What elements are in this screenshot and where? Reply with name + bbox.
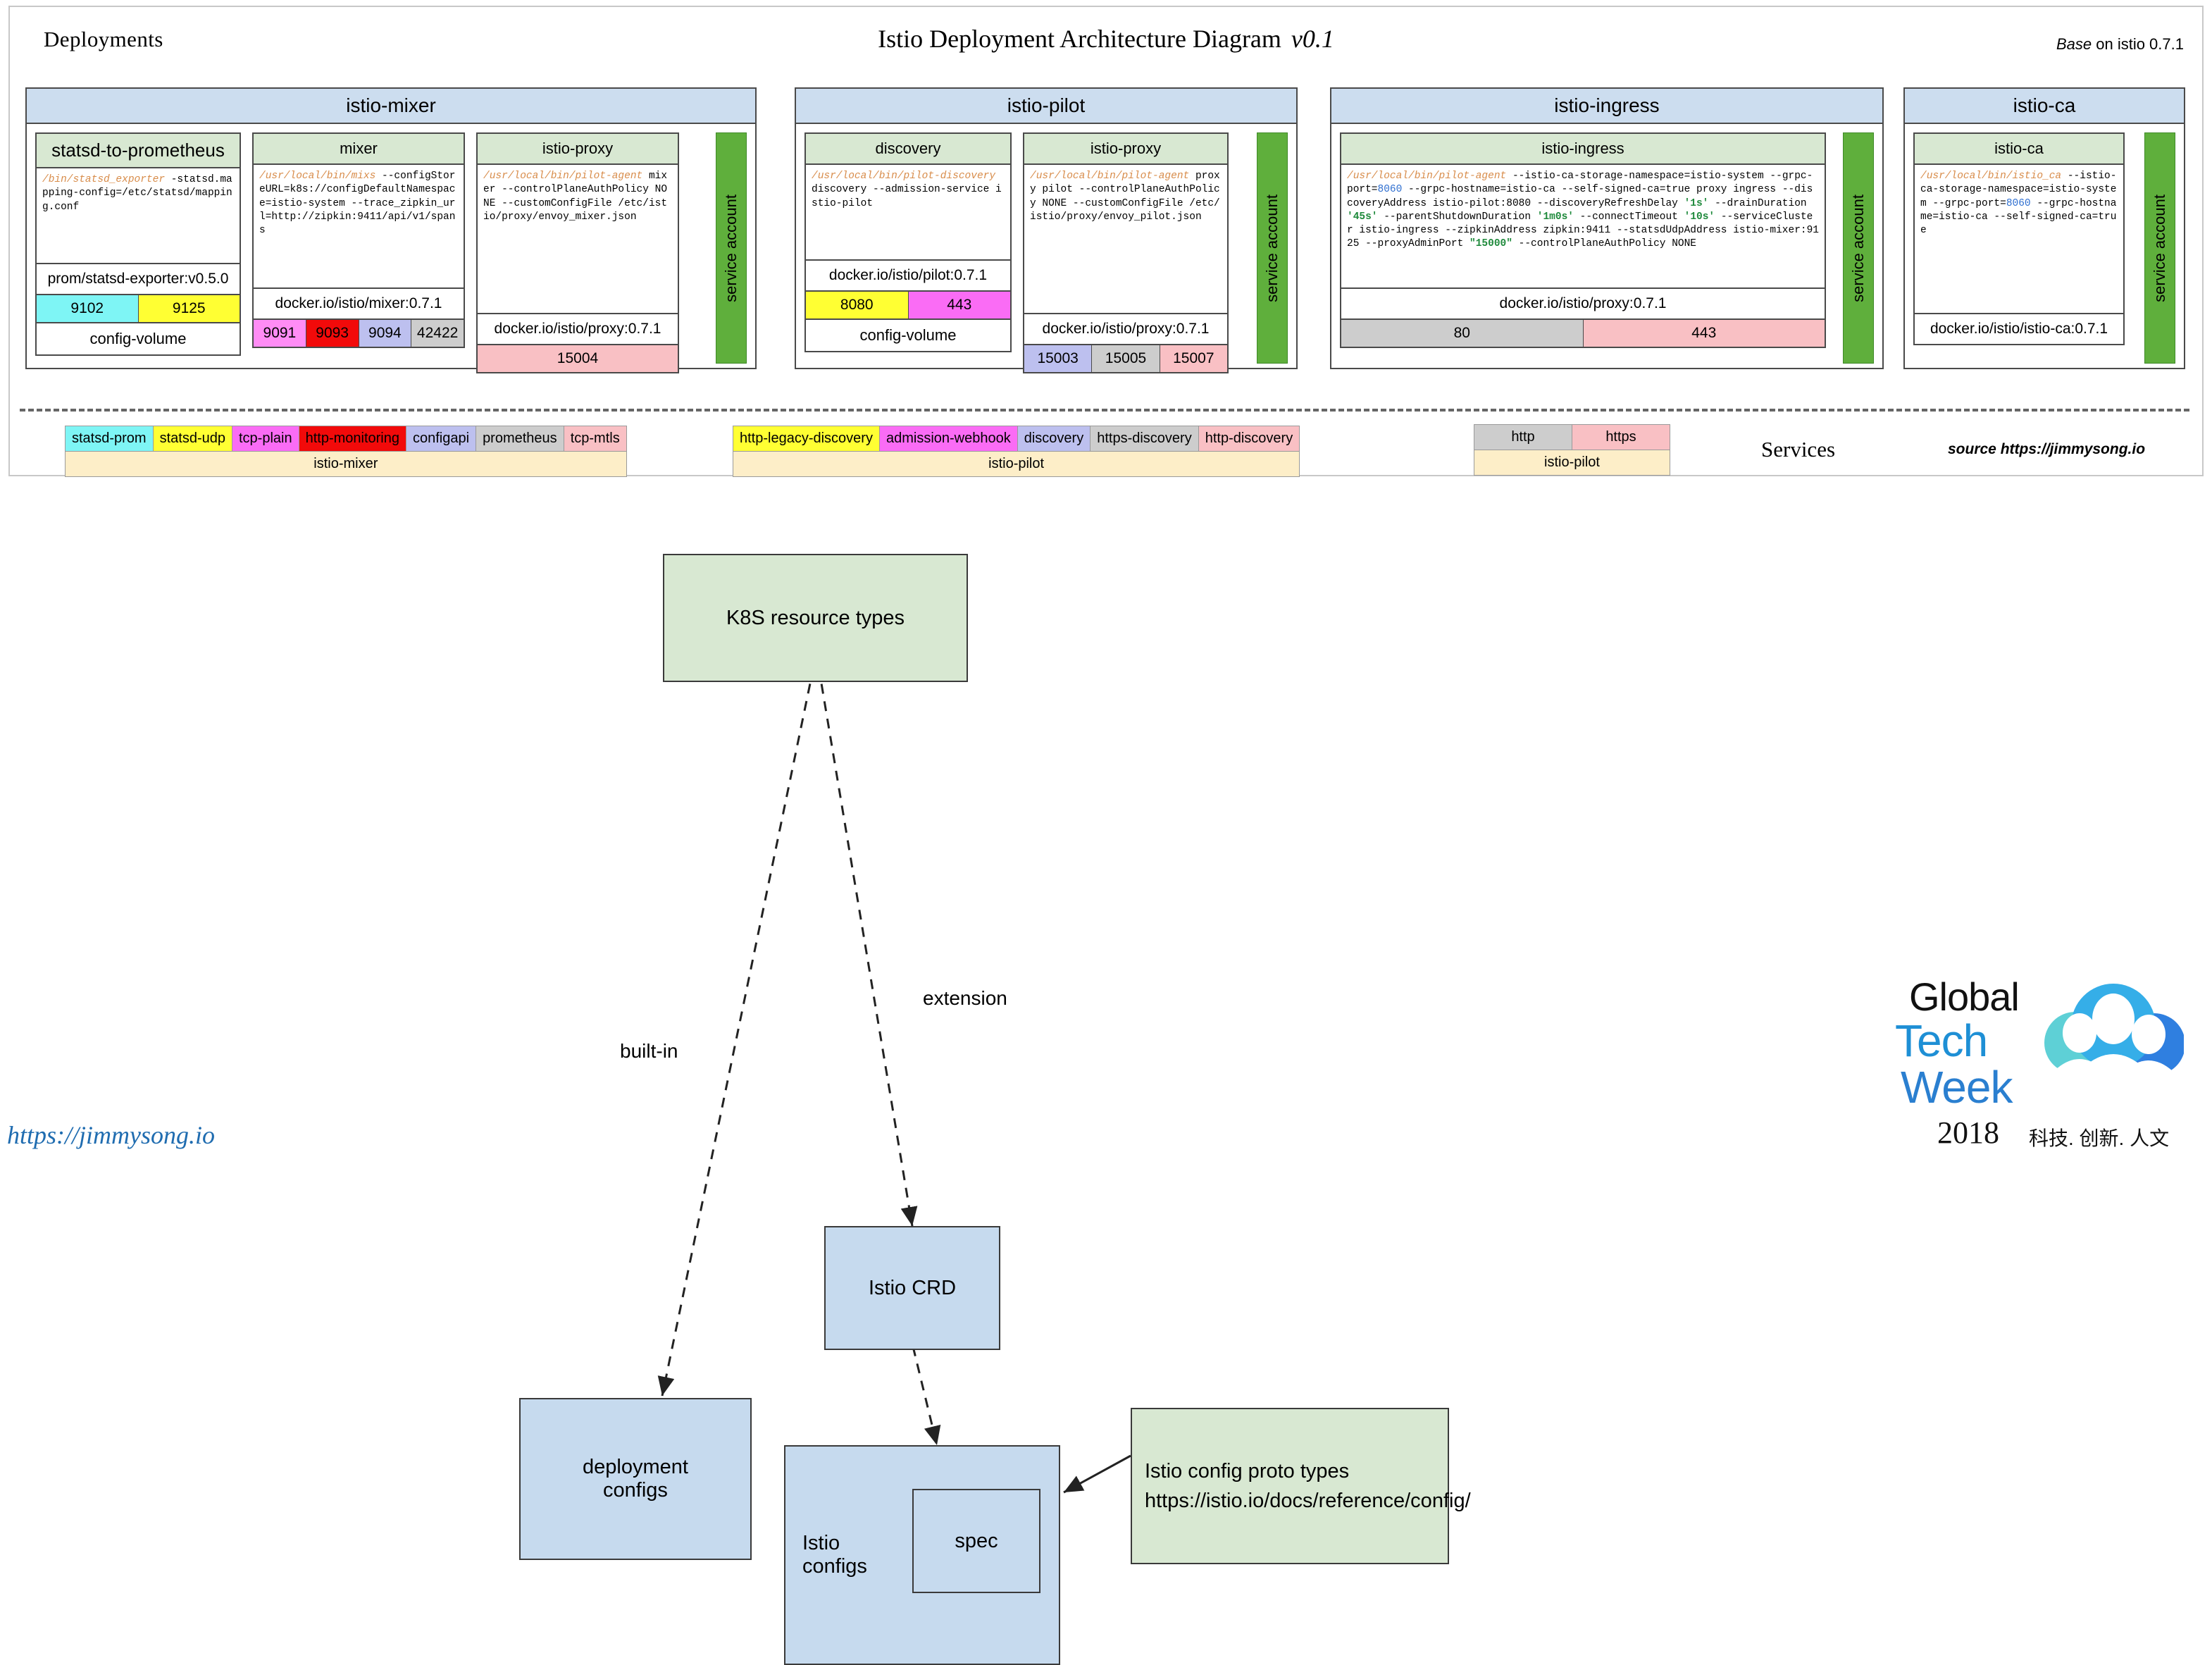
container-list: istio-ingress/usr/local/bin/pilot-agent … [1340,132,1843,348]
container-statsd-to-prometheus[interactable]: statsd-to-prometheus/bin/statsd_exporter… [35,132,241,356]
base-note-rest: on istio 0.7.1 [2092,35,2184,53]
port-cell[interactable]: 443 [909,292,1011,318]
node-k8s-resource-types[interactable]: K8S resource types [663,554,968,682]
deployment-group-istio-ingress[interactable]: istio-ingressistio-ingress/usr/local/bin… [1330,87,1884,369]
node-istio-crd[interactable]: Istio CRD [824,1226,1000,1350]
port-cell[interactable]: 15007 [1160,345,1227,372]
port-cell[interactable]: 80 [1341,320,1584,347]
version-label: v0.1 [1291,25,1334,53]
port-cell[interactable]: 443 [1584,320,1825,347]
deployment-group-body: istio-ca/usr/local/bin/istio_ca --istio-… [1905,124,2184,372]
container-image: prom/statsd-exporter:v0.5.0 [37,264,240,295]
service-account-strip: service account [2144,132,2175,364]
deployment-group-title: istio-mixer [27,89,755,124]
page-title: Istio Deployment Architecture Diagramv0.… [0,24,2212,54]
service-port-row: statsd-promstatsd-udptcp-plainhttp-monit… [66,426,626,452]
container-ports: 8080443 [806,292,1010,320]
node-deployment-label: deployment configs [521,1456,750,1502]
service-port[interactable]: statsd-udp [154,426,232,451]
container-title: mixer [254,134,464,165]
edge-builtin [662,667,814,1396]
logo-line-week: Week [1901,1061,2012,1113]
edge-extension [819,667,912,1226]
service-account-label: service account [722,194,740,302]
container-image: docker.io/istio/istio-ca:0.7.1 [1915,314,2123,344]
deployment-group-istio-pilot[interactable]: istio-pilotdiscovery/usr/local/bin/pilot… [795,87,1298,369]
service-name: istio-mixer [66,452,626,476]
container-title: istio-ca [1915,134,2123,165]
node-istio-configs-label: Istio configs [802,1532,867,1578]
container-volume: config-volume [37,323,240,354]
global-tech-week-logo: Global Tech Week 2018 科技. 创新. 人文 [1895,974,2191,1171]
service-istio-pilot-2[interactable]: httphttpsistio-pilot [1474,424,1670,476]
deployment-group-title: istio-pilot [796,89,1296,124]
page-title-text: Istio Deployment Architecture Diagram [878,25,1281,53]
container-command: /usr/local/bin/pilot-discovery discovery… [806,165,1010,261]
deployment-group-title: istio-ingress [1331,89,1882,124]
port-cell[interactable]: 9125 [139,295,240,322]
service-port[interactable]: http-monitoring [299,426,406,451]
logo-line-global: Global [1909,974,2019,1020]
container-command: /bin/statsd_exporter -statsd.mapping-con… [37,168,240,264]
port-cell[interactable]: 15005 [1092,345,1160,372]
container-command: /usr/local/bin/istio_ca --istio-ca-stora… [1915,165,2123,314]
services-label: Services [1761,437,1835,462]
service-port[interactable]: admission-webhook [880,426,1018,451]
container-istio-proxy[interactable]: istio-proxy/usr/local/bin/pilot-agent mi… [476,132,679,373]
service-istio-pilot-1[interactable]: http-legacy-discoveryadmission-webhookdi… [733,426,1300,477]
container-ports: 90919093909442422 [254,320,464,347]
edge-crd-to-configs [913,1347,937,1445]
service-account-strip: service account [1257,132,1288,364]
service-name: istio-pilot [733,452,1299,476]
service-port[interactable]: http-discovery [1199,426,1300,451]
node-crd-label: Istio CRD [869,1277,956,1300]
container-volume: config-volume [806,320,1010,351]
container-title: istio-proxy [1024,134,1227,165]
deployment-group-istio-mixer[interactable]: istio-mixerstatsd-to-prometheus/bin/stat… [25,87,757,369]
port-cell[interactable]: 9091 [254,320,306,347]
edge-label-builtin: built-in [620,1040,678,1063]
logo-tagline: 科技. 创新. 人文 [2029,1123,2169,1151]
service-port[interactable]: tcp-mtls [564,426,626,451]
container-ports: 150031500515007 [1024,345,1227,372]
people-cloud-icon [2043,979,2184,1113]
source-note: source https://jimmysong.io [1948,441,2145,458]
service-port[interactable]: http-legacy-discovery [733,426,880,451]
container-image: docker.io/istio/proxy:0.7.1 [1024,314,1227,345]
container-istio-ca[interactable]: istio-ca/usr/local/bin/istio_ca --istio-… [1913,132,2125,345]
service-account-label: service account [2151,194,2169,302]
service-port[interactable]: https [1572,425,1670,450]
container-image: docker.io/istio/pilot:0.7.1 [806,261,1010,292]
port-cell[interactable]: 42422 [411,320,464,347]
base-version-note: Base on istio 0.7.1 [2056,35,2184,54]
service-name: istio-pilot [1474,450,1670,475]
diagram-edges [0,476,2212,1181]
container-discovery[interactable]: discovery/usr/local/bin/pilot-discovery … [804,132,1012,352]
service-port-row: httphttps [1474,425,1670,450]
container-title: statsd-to-prometheus [37,134,240,168]
edge-proto-to-spec [1064,1456,1131,1492]
container-list: statsd-to-prometheus/bin/statsd_exporter… [35,132,716,373]
service-port-row: http-legacy-discoveryadmission-webhookdi… [733,426,1299,452]
container-image: docker.io/istio/proxy:0.7.1 [478,314,678,345]
deployment-group-istio-ca[interactable]: istio-caistio-ca/usr/local/bin/istio_ca … [1903,87,2185,369]
node-k8s-label: K8S resource types [726,607,905,630]
node-istio-config-proto-types[interactable]: Istio config proto types https://istio.i… [1131,1408,1449,1564]
deployment-group-body: discovery/usr/local/bin/pilot-discovery … [796,124,1296,372]
node-spec-label: spec [955,1530,998,1553]
container-image: docker.io/istio/proxy:0.7.1 [1341,289,1825,320]
base-note-emphasis: Base [2056,35,2092,53]
port-cell[interactable]: 15003 [1024,345,1092,372]
deployment-group-body: istio-ingress/usr/local/bin/pilot-agent … [1331,124,1882,372]
container-image: docker.io/istio/mixer:0.7.1 [254,289,464,320]
container-title: istio-proxy [478,134,678,165]
node-istio-configs[interactable]: Istio configs spec [784,1445,1060,1665]
edge-label-extension: extension [923,987,1007,1010]
resource-model-diagram: K8S resource types Istio CRD deployment … [0,476,2212,1181]
node-spec[interactable]: spec [912,1489,1040,1593]
port-cell[interactable]: 8080 [806,292,909,318]
container-command: /usr/local/bin/mixs --configStoreURL=k8s… [254,165,464,289]
site-url[interactable]: https://jimmysong.io [7,1120,215,1150]
container-istio-ingress[interactable]: istio-ingress/usr/local/bin/pilot-agent … [1340,132,1826,348]
container-command: /usr/local/bin/pilot-agent mixer --contr… [478,165,678,314]
container-list: discovery/usr/local/bin/pilot-discovery … [804,132,1257,373]
port-cell[interactable]: 15004 [478,345,678,372]
deployment-group-body: statsd-to-prometheus/bin/statsd_exporter… [27,124,755,372]
container-ports: 91029125 [37,295,240,323]
service-port[interactable]: tcp-plain [232,426,299,451]
section-divider [20,409,2189,411]
service-port[interactable]: discovery [1018,426,1091,451]
container-command: /usr/local/bin/pilot-agent proxy pilot -… [1024,165,1227,314]
container-command: /usr/local/bin/pilot-agent --istio-ca-st… [1341,165,1825,289]
service-account-label: service account [1263,194,1281,302]
service-account-label: service account [1849,194,1868,302]
container-ports: 15004 [478,345,678,372]
service-port[interactable]: statsd-prom [66,426,154,451]
container-list: istio-ca/usr/local/bin/istio_ca --istio-… [1913,132,2144,345]
service-account-strip: service account [716,132,747,364]
logo-line-tech: Tech [1895,1015,1987,1067]
service-port[interactable]: https-discovery [1091,426,1199,451]
container-istio-proxy[interactable]: istio-proxy/usr/local/bin/pilot-agent pr… [1023,132,1229,373]
service-account-strip: service account [1843,132,1874,364]
node-deployment-configs[interactable]: deployment configs [519,1398,752,1560]
node-proto-label: Istio config proto types https://istio.i… [1145,1456,1471,1516]
port-cell[interactable]: 9094 [359,320,412,347]
service-istio-mixer-0[interactable]: statsd-promstatsd-udptcp-plainhttp-monit… [65,426,627,477]
service-port[interactable]: prometheus [476,426,564,451]
deployment-group-title: istio-ca [1905,89,2184,124]
service-port[interactable]: http [1474,425,1572,450]
service-port[interactable]: configapi [406,426,476,451]
container-title: discovery [806,134,1010,165]
container-title: istio-ingress [1341,134,1825,165]
port-cell[interactable]: 9102 [37,295,139,322]
container-ports: 80443 [1341,320,1825,347]
container-mixer[interactable]: mixer/usr/local/bin/mixs --configStoreUR… [252,132,465,348]
port-cell[interactable]: 9093 [306,320,359,347]
logo-year: 2018 [1937,1115,1999,1151]
